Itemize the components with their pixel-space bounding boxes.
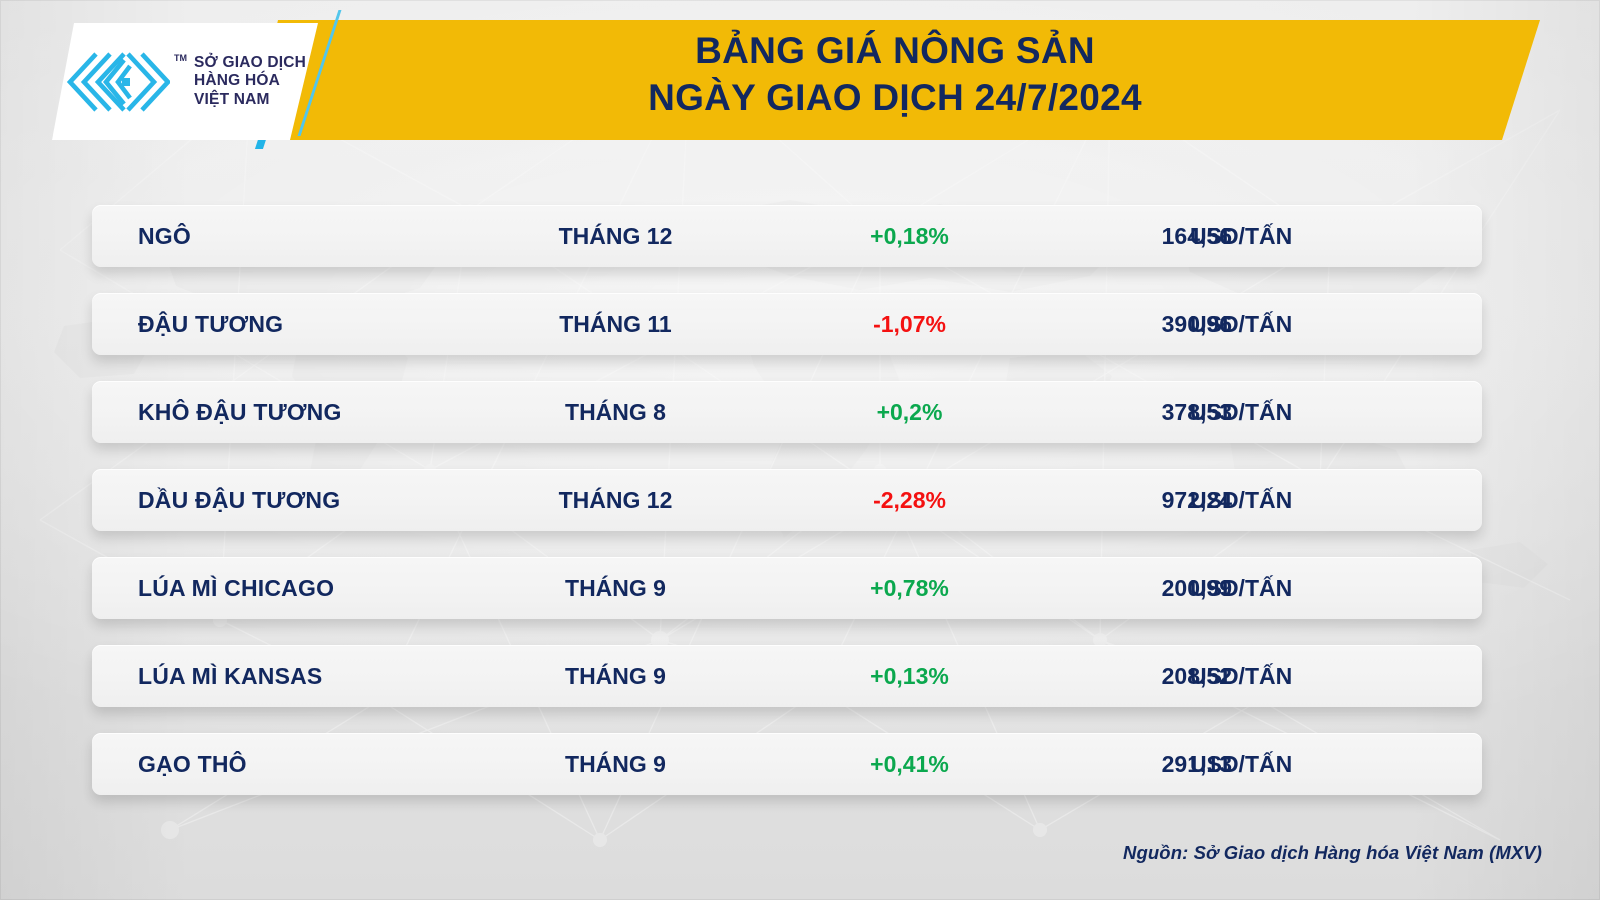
table-row[interactable]: KHÔ ĐẬU TƯƠNGTHÁNG 8+0,2%378,53USD/TẤN [92, 381, 1482, 443]
commodity-name: LÚA MÌ KANSAS [138, 663, 322, 690]
price-unit: USD/TẤN [1190, 487, 1292, 514]
contract-month: THÁNG 8 [498, 399, 733, 426]
contract-month: THÁNG 12 [498, 223, 733, 250]
commodity-name: NGÔ [138, 223, 191, 250]
price-table: NGÔTHÁNG 12+0,18%164,56USD/TẤNĐẬU TƯƠNGT… [0, 0, 1600, 900]
change-percent: +0,2% [792, 399, 1027, 426]
commodity-name: GẠO THÔ [138, 751, 247, 778]
price-unit: USD/TẤN [1190, 399, 1292, 426]
table-row[interactable]: NGÔTHÁNG 12+0,18%164,56USD/TẤN [92, 205, 1482, 267]
contract-month: THÁNG 11 [498, 311, 733, 338]
change-percent: +0,78% [792, 575, 1027, 602]
commodity-name: LÚA MÌ CHICAGO [138, 575, 334, 602]
contract-month: THÁNG 9 [498, 663, 733, 690]
price-unit: USD/TẤN [1190, 223, 1292, 250]
source-note: Nguồn: Sở Giao dịch Hàng hóa Việt Nam (M… [1123, 842, 1542, 864]
change-percent: +0,41% [792, 751, 1027, 778]
table-row[interactable]: LÚA MÌ CHICAGOTHÁNG 9+0,78%200,99USD/TẤN [92, 557, 1482, 619]
contract-month: THÁNG 9 [498, 751, 733, 778]
contract-month: THÁNG 9 [498, 575, 733, 602]
table-row[interactable]: LÚA MÌ KANSASTHÁNG 9+0,13%208,52USD/TẤN [92, 645, 1482, 707]
table-row[interactable]: ĐẬU TƯƠNGTHÁNG 11-1,07%390,96USD/TẤN [92, 293, 1482, 355]
commodity-name: ĐẬU TƯƠNG [138, 311, 283, 338]
change-percent: -2,28% [792, 487, 1027, 514]
commodity-name: DẦU ĐẬU TƯƠNG [138, 487, 340, 514]
price-unit: USD/TẤN [1190, 751, 1292, 778]
price-unit: USD/TẤN [1190, 663, 1292, 690]
change-percent: +0,13% [792, 663, 1027, 690]
change-percent: +0,18% [792, 223, 1027, 250]
commodity-name: KHÔ ĐẬU TƯƠNG [138, 399, 342, 426]
agri-price-board: BẢNG GIÁ NÔNG SẢN NGÀY GIAO DỊCH 24/7/20… [0, 0, 1600, 900]
table-row[interactable]: DẦU ĐẬU TƯƠNGTHÁNG 12-2,28%972,24USD/TẤN [92, 469, 1482, 531]
price-unit: USD/TẤN [1190, 311, 1292, 338]
price-unit: USD/TẤN [1190, 575, 1292, 602]
table-row[interactable]: GẠO THÔTHÁNG 9+0,41%291,13USD/TẤN [92, 733, 1482, 795]
change-percent: -1,07% [792, 311, 1027, 338]
contract-month: THÁNG 12 [498, 487, 733, 514]
